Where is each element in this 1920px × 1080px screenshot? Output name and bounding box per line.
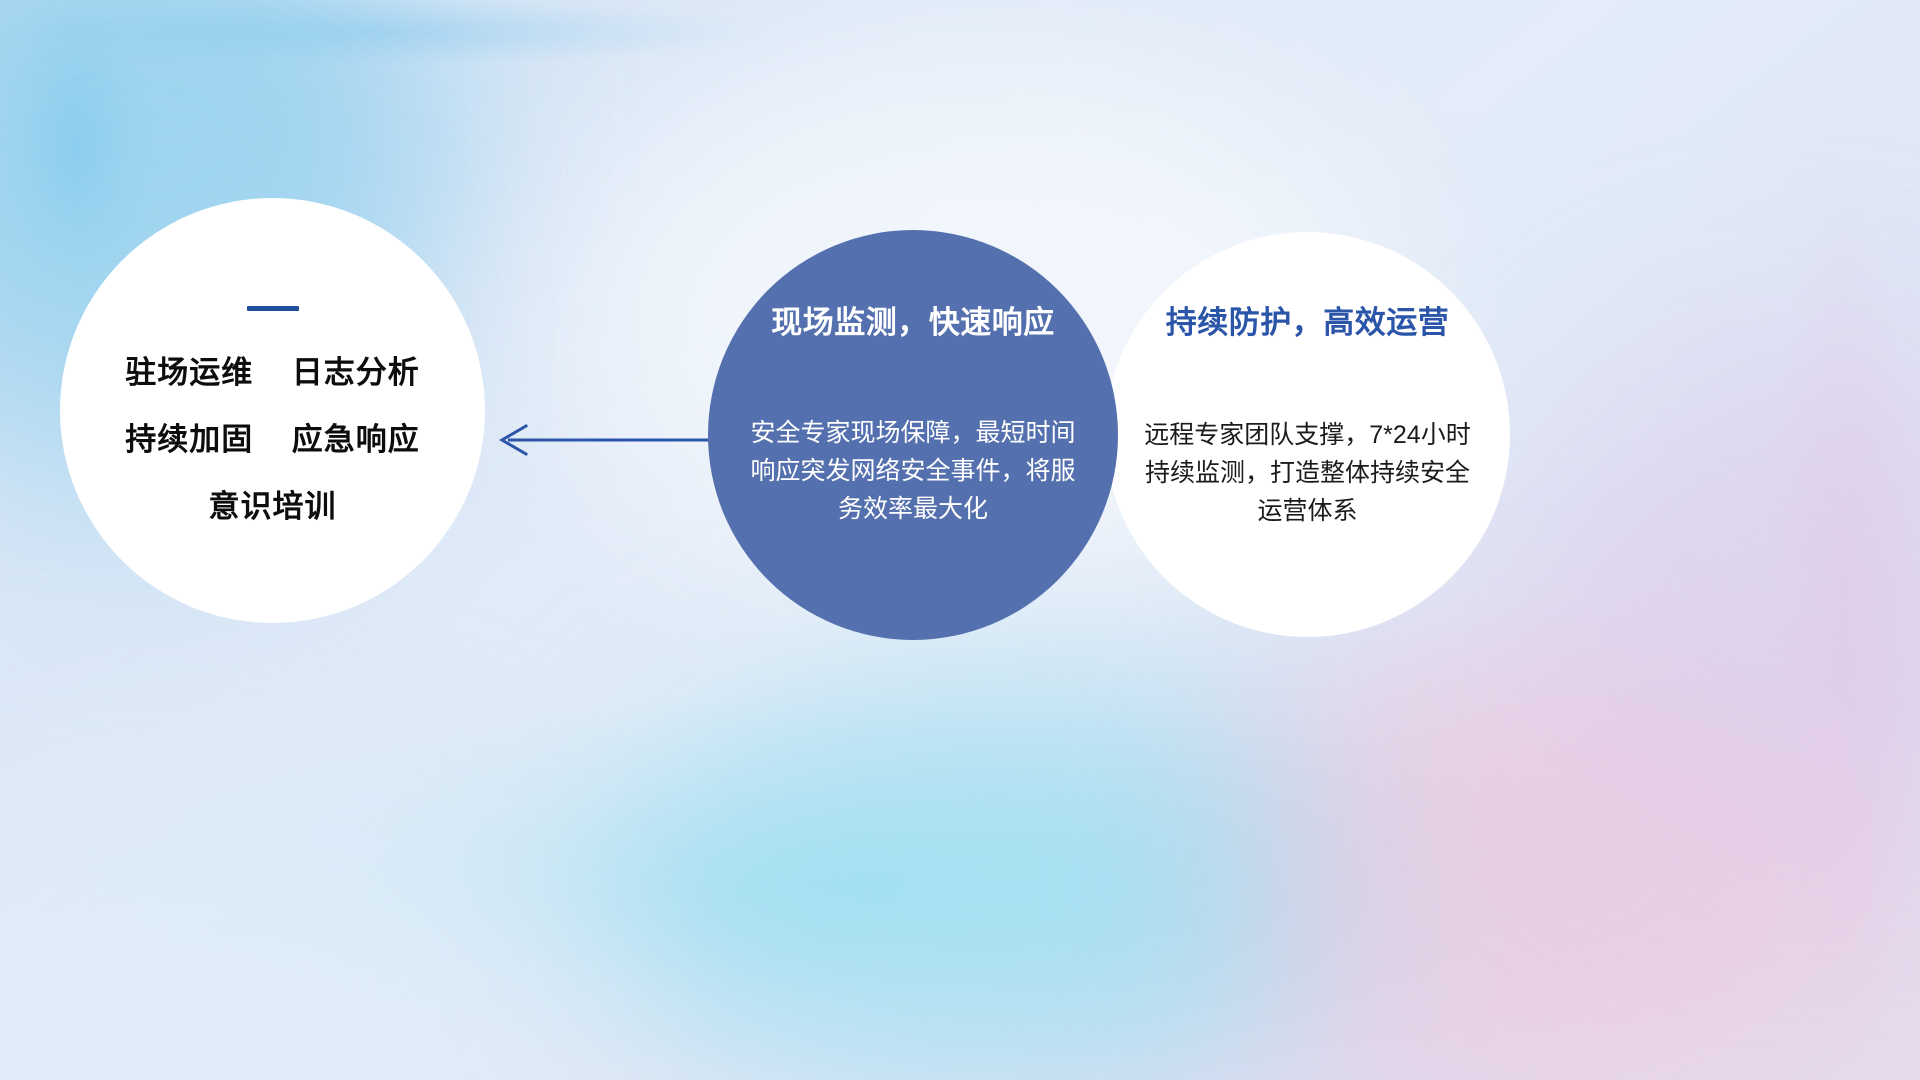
left-circle-content: 驻场运维 日志分析 持续加固 应急响应 意识培训	[60, 306, 485, 522]
background-blob-white-bottom-left	[0, 780, 580, 1080]
left-circle-line-2: 持续加固 应急响应	[60, 424, 485, 455]
middle-circle-content: 现场监测，快速响应 安全专家现场保障，最短时间响应突发网络安全事件，将服务效率最…	[732, 306, 1094, 528]
right-circle-title: 持续防护，高效运营	[1123, 306, 1492, 340]
slide-canvas: 驻场运维 日志分析 持续加固 应急响应 意识培训 现场监测，快速响应 安全专家现…	[0, 0, 1920, 1080]
middle-circle-body: 安全专家现场保障，最短时间响应突发网络安全事件，将服务效率最大化	[732, 414, 1094, 528]
right-protection-circle[interactable]: 持续防护，高效运营 远程专家团队支撑，7*24小时持续监测，打造整体持续安全运营…	[1105, 232, 1510, 637]
left-circle-line-1: 驻场运维 日志分析	[60, 357, 485, 388]
background-blob-lilac-right	[1520, 330, 1920, 850]
right-circle-content: 持续防护，高效运营 远程专家团队支撑，7*24小时持续监测，打造整体持续安全运营…	[1123, 306, 1492, 530]
blue-dash-icon	[247, 306, 299, 311]
background-blob-cyan-bottom	[620, 680, 1380, 1080]
left-capability-circle[interactable]: 驻场运维 日志分析 持续加固 应急响应 意识培训	[60, 198, 485, 623]
arrow-left-icon	[480, 410, 720, 470]
background-blob-pink-bottom-right	[1240, 640, 1880, 1080]
left-circle-line-3: 意识培训	[60, 491, 485, 522]
right-circle-body: 远程专家团队支撑，7*24小时持续监测，打造整体持续安全运营体系	[1123, 416, 1492, 530]
middle-onsite-circle[interactable]: 现场监测，快速响应 安全专家现场保障，最短时间响应突发网络安全事件，将服务效率最…	[708, 230, 1118, 640]
middle-circle-title: 现场监测，快速响应	[732, 306, 1094, 340]
